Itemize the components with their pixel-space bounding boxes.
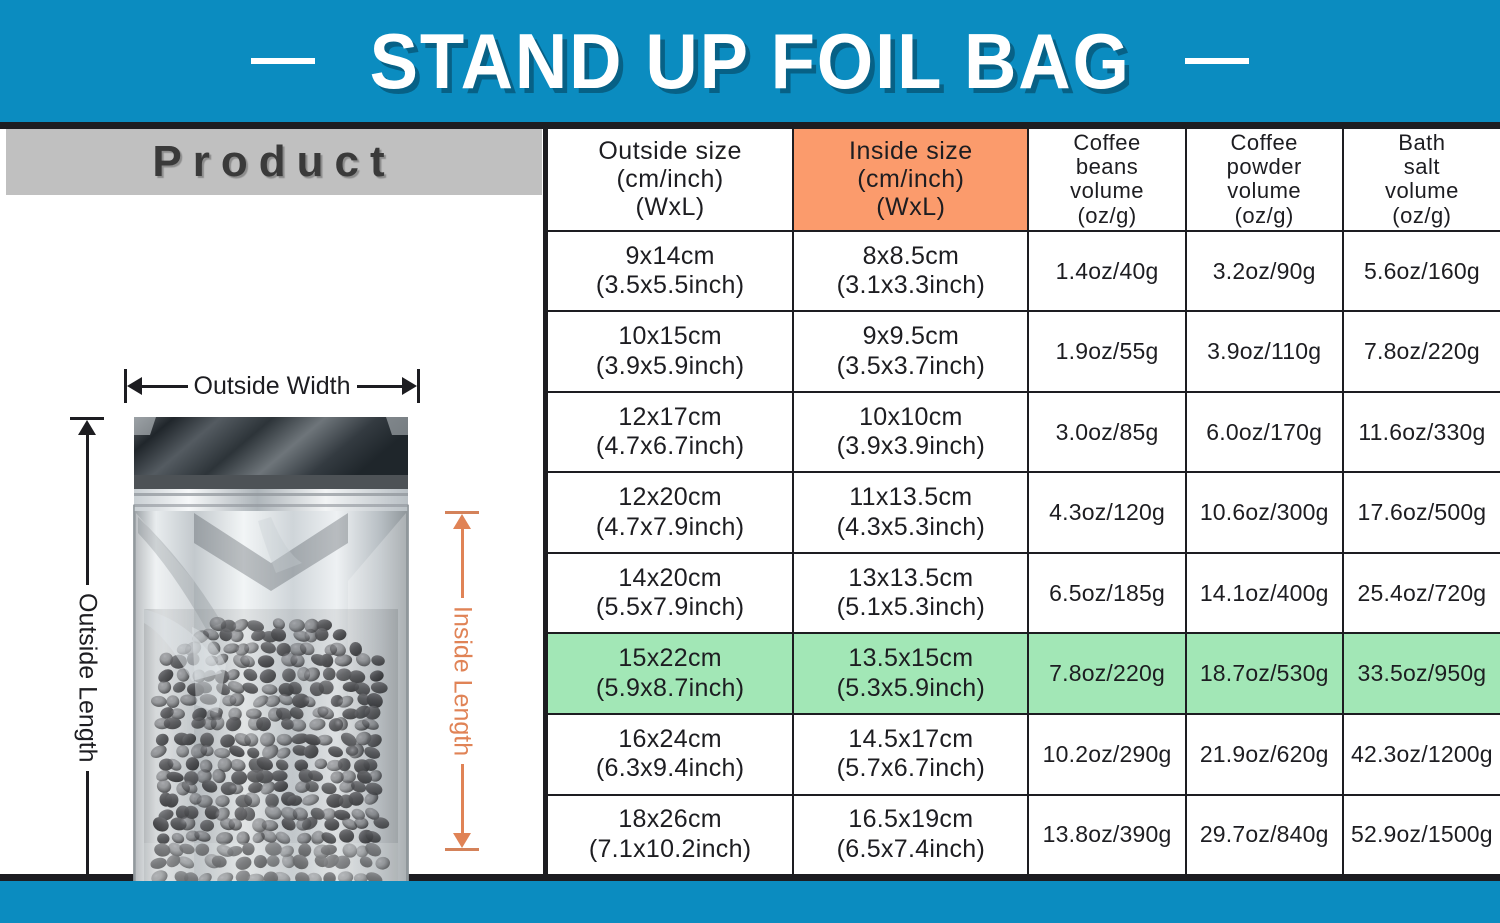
cell-bath-salt-volume: 25.4oz/720g (1343, 553, 1500, 634)
cell-coffee-powder-volume: 10.6oz/300g (1186, 472, 1343, 553)
cell-coffee-beans-volume: 10.2oz/290g (1028, 714, 1185, 795)
cell-coffee-beans-volume: 3.0oz/85g (1028, 392, 1185, 473)
size-inch: (6.3x9.4inch) (551, 754, 789, 784)
cell-inside-size: 14.5x17cm(5.7x6.7inch) (793, 714, 1028, 795)
outside-width-label: Outside Width (188, 374, 357, 399)
size-inch: (3.5x3.7inch) (797, 352, 1024, 382)
cell-bath-salt-volume: 7.8oz/220g (1343, 311, 1500, 392)
banner-title: STAND UP FOIL BAG (369, 22, 1130, 100)
column-header-coffee-powder-volume: Coffee powder volume (oz/g) (1186, 129, 1343, 231)
size-cm: 9x9.5cm (797, 322, 1024, 352)
table-row[interactable]: 12x20cm(4.7x7.9inch)11x13.5cm(4.3x5.3inc… (548, 472, 1500, 553)
size-table-header: Outside size (cm/inch) (WxL) Inside size… (548, 129, 1500, 231)
cell-inside-size: 10x10cm(3.9x3.9inch) (793, 392, 1028, 473)
arrow-right-icon (402, 377, 417, 395)
header-line-2: salt (1347, 155, 1497, 179)
cell-coffee-powder-volume: 18.7oz/530g (1186, 633, 1343, 714)
header-line-1: Coffee (1032, 131, 1181, 155)
header-line-3: (WxL) (551, 193, 789, 221)
cell-coffee-powder-volume: 6.0oz/170g (1186, 392, 1343, 473)
size-inch: (5.1x5.3inch) (797, 593, 1024, 623)
outside-length-annotation: Outside Length (70, 417, 104, 923)
size-inch: (4.7x7.9inch) (551, 513, 789, 543)
size-cm: 13.5x15cm (797, 644, 1024, 674)
cell-inside-size: 8x8.5cm(3.1x3.3inch) (793, 231, 1028, 312)
size-cm: 11x13.5cm (797, 483, 1024, 513)
size-inch: (4.7x6.7inch) (551, 432, 789, 462)
arrow-up-icon (453, 514, 471, 529)
cell-inside-size: 16.5x19cm(6.5x7.4inch) (793, 795, 1028, 874)
table-row[interactable]: 16x24cm(6.3x9.4inch)14.5x17cm(5.7x6.7inc… (548, 714, 1500, 795)
size-cm: 10x15cm (551, 322, 789, 352)
header-line-1: Inside size (797, 137, 1024, 165)
cell-coffee-beans-volume: 1.4oz/40g (1028, 231, 1185, 312)
column-header-bath-salt-volume: Bath salt volume (oz/g) (1343, 129, 1500, 231)
header-line-2: (cm/inch) (551, 165, 789, 193)
dimension-line (142, 385, 188, 388)
size-cm: 8x8.5cm (797, 242, 1024, 272)
cell-outside-size: 9x14cm(3.5x5.5inch) (548, 231, 793, 312)
cell-coffee-powder-volume: 21.9oz/620g (1186, 714, 1343, 795)
foil-bag-illustration (126, 413, 416, 923)
product-header-bar: Product (6, 129, 542, 195)
header-line-2: (cm/inch) (797, 165, 1024, 193)
table-row[interactable]: 15x22cm(5.9x8.7inch)13.5x15cm(5.3x5.9inc… (548, 633, 1500, 714)
product-header-label: Product (152, 137, 395, 187)
size-table-container: Outside size (cm/inch) (WxL) Inside size… (548, 129, 1500, 874)
table-row[interactable]: 9x14cm(3.5x5.5inch)8x8.5cm(3.1x3.3inch)1… (548, 231, 1500, 312)
size-cm: 12x20cm (551, 483, 789, 513)
size-cm: 13x13.5cm (797, 564, 1024, 594)
chart-body: Product Outside Width Outside Length (0, 122, 1500, 881)
size-table-body: 9x14cm(3.5x5.5inch)8x8.5cm(3.1x3.3inch)1… (548, 231, 1500, 874)
cell-bath-salt-volume: 52.9oz/1500g (1343, 795, 1500, 874)
size-inch: (5.5x7.9inch) (551, 593, 789, 623)
size-inch: (5.9x8.7inch) (551, 674, 789, 704)
cell-coffee-powder-volume: 14.1oz/400g (1186, 553, 1343, 634)
size-cm: 16x24cm (551, 725, 789, 755)
size-cm: 18x26cm (551, 805, 789, 835)
banner-dash-right (1185, 58, 1249, 64)
column-header-inside-size: Inside size (cm/inch) (WxL) (793, 129, 1028, 231)
cell-bath-salt-volume: 5.6oz/160g (1343, 231, 1500, 312)
header-line-1: Bath (1347, 131, 1497, 155)
cell-coffee-powder-volume: 3.2oz/90g (1186, 231, 1343, 312)
cell-coffee-beans-volume: 1.9oz/55g (1028, 311, 1185, 392)
table-row[interactable]: 10x15cm(3.9x5.9inch)9x9.5cm(3.5x3.7inch)… (548, 311, 1500, 392)
cell-outside-size: 16x24cm(6.3x9.4inch) (548, 714, 793, 795)
size-table: Outside size (cm/inch) (WxL) Inside size… (548, 129, 1500, 874)
cell-bath-salt-volume: 33.5oz/950g (1343, 633, 1500, 714)
header-line-2: beans (1032, 155, 1181, 179)
size-cm: 16.5x19cm (797, 805, 1024, 835)
cell-bath-salt-volume: 42.3oz/1200g (1343, 714, 1500, 795)
size-inch: (5.3x5.9inch) (797, 674, 1024, 704)
cell-outside-size: 18x26cm(7.1x10.2inch) (548, 795, 793, 874)
cell-inside-size: 11x13.5cm(4.3x5.3inch) (793, 472, 1028, 553)
top-banner: STAND UP FOIL BAG (0, 0, 1500, 122)
cell-inside-size: 9x9.5cm(3.5x3.7inch) (793, 311, 1028, 392)
header-line-3: volume (1032, 179, 1181, 203)
banner-dash-left (251, 58, 315, 64)
header-line-3: (WxL) (797, 193, 1024, 221)
cell-coffee-beans-volume: 13.8oz/390g (1028, 795, 1185, 874)
outside-width-annotation: Outside Width (124, 369, 420, 403)
size-cm: 10x10cm (797, 403, 1024, 433)
size-chart-page: STAND UP FOIL BAG Product Outside Width (0, 0, 1500, 923)
table-row[interactable]: 14x20cm(5.5x7.9inch)13x13.5cm(5.1x5.3inc… (548, 553, 1500, 634)
cell-coffee-beans-volume: 6.5oz/185g (1028, 553, 1185, 634)
inside-length-annotation: Inside Length (445, 511, 479, 851)
size-inch: (7.1x10.2inch) (551, 835, 789, 865)
dimension-line (461, 529, 464, 598)
size-inch: (3.9x5.9inch) (551, 352, 789, 382)
arrow-up-icon (78, 420, 96, 435)
size-inch: (6.5x7.4inch) (797, 835, 1024, 865)
cell-coffee-beans-volume: 7.8oz/220g (1028, 633, 1185, 714)
header-line-3: volume (1347, 179, 1497, 203)
cell-outside-size: 15x22cm(5.9x8.7inch) (548, 633, 793, 714)
column-header-coffee-beans-volume: Coffee beans volume (oz/g) (1028, 129, 1185, 231)
cell-coffee-powder-volume: 29.7oz/840g (1186, 795, 1343, 874)
header-line-1: Outside size (551, 137, 789, 165)
dimension-line (86, 435, 89, 585)
cell-outside-size: 12x17cm(4.7x6.7inch) (548, 392, 793, 473)
size-inch: (3.5x5.5inch) (551, 271, 789, 301)
size-inch: (5.7x6.7inch) (797, 754, 1024, 784)
cell-outside-size: 10x15cm(3.9x5.9inch) (548, 311, 793, 392)
table-row[interactable]: 12x17cm(4.7x6.7inch)10x10cm(3.9x3.9inch)… (548, 392, 1500, 473)
column-header-outside-size: Outside size (cm/inch) (WxL) (548, 129, 793, 231)
size-inch: (3.9x3.9inch) (797, 432, 1024, 462)
size-cm: 9x14cm (551, 242, 789, 272)
cell-bath-salt-volume: 17.6oz/500g (1343, 472, 1500, 553)
header-line-4: (oz/g) (1032, 204, 1181, 228)
header-line-3: volume (1190, 179, 1339, 203)
arrow-left-icon (127, 377, 142, 395)
product-photo (126, 413, 416, 923)
size-cm: 15x22cm (551, 644, 789, 674)
dimension-cap-right (417, 369, 420, 403)
cell-coffee-beans-volume: 4.3oz/120g (1028, 472, 1185, 553)
dimension-cap-bottom (445, 848, 479, 851)
dimension-line (357, 385, 403, 388)
inside-length-label: Inside Length (450, 598, 475, 764)
header-line-1: Coffee (1190, 131, 1339, 155)
cell-coffee-powder-volume: 3.9oz/110g (1186, 311, 1343, 392)
size-cm: 14x20cm (551, 564, 789, 594)
header-line-4: (oz/g) (1190, 204, 1339, 228)
bottom-banner (0, 881, 1500, 923)
arrow-down-icon (453, 833, 471, 848)
cell-outside-size: 14x20cm(5.5x7.9inch) (548, 553, 793, 634)
size-cm: 12x17cm (551, 403, 789, 433)
size-inch: (4.3x5.3inch) (797, 513, 1024, 543)
dimension-line (461, 764, 464, 833)
cell-outside-size: 12x20cm(4.7x7.9inch) (548, 472, 793, 553)
table-row[interactable]: 18x26cm(7.1x10.2inch)16.5x19cm(6.5x7.4in… (548, 795, 1500, 874)
header-line-2: powder (1190, 155, 1339, 179)
outside-length-label: Outside Length (75, 585, 100, 771)
header-row: Outside size (cm/inch) (WxL) Inside size… (548, 129, 1500, 231)
cell-inside-size: 13x13.5cm(5.1x5.3inch) (793, 553, 1028, 634)
product-panel: Product Outside Width Outside Length (0, 129, 548, 874)
cell-inside-size: 13.5x15cm(5.3x5.9inch) (793, 633, 1028, 714)
cell-bath-salt-volume: 11.6oz/330g (1343, 392, 1500, 473)
size-inch: (3.1x3.3inch) (797, 271, 1024, 301)
size-cm: 14.5x17cm (797, 725, 1024, 755)
header-line-4: (oz/g) (1347, 204, 1497, 228)
